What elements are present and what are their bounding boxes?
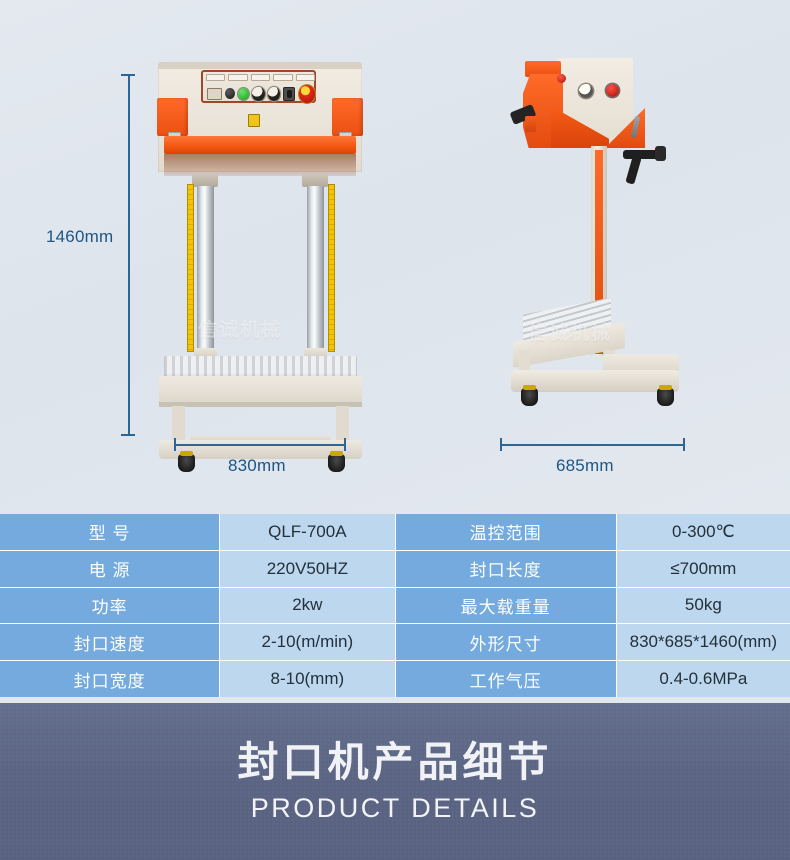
green-start-button-icon — [238, 88, 249, 100]
caster-side-left — [521, 388, 538, 406]
front-view-machine — [150, 62, 370, 444]
table-row: 电 源 220V50HZ 封口长度 ≤700mm — [0, 551, 790, 587]
side-red-button-icon — [606, 84, 619, 97]
panel-label-3 — [251, 74, 270, 81]
side-orange-tab — [525, 116, 536, 132]
panel-label-4 — [273, 74, 292, 81]
measuring-ruler-left — [187, 184, 194, 352]
front-width-dimension-label: 830mm — [228, 456, 286, 476]
chrome-post-left — [197, 186, 214, 350]
sealing-block-right — [332, 98, 363, 136]
spec-key: 封口长度 — [396, 551, 616, 587]
temperature-meter-icon — [252, 87, 265, 101]
spec-value: 830*685*1460(mm) — [617, 624, 790, 660]
roller-conveyor-front — [164, 356, 357, 378]
pressure-gauge-icon — [579, 84, 593, 98]
spec-value: 0.4-0.6MPa — [617, 661, 790, 697]
sealing-bar — [164, 136, 356, 154]
measuring-ruler-right — [328, 184, 335, 352]
side-view-machine — [505, 58, 685, 444]
control-panel-controls — [207, 85, 315, 102]
front-width-tick-right — [344, 438, 346, 451]
caster-front-right — [328, 454, 345, 472]
spec-key: 工作气压 — [396, 661, 616, 697]
side-width-tick-left — [500, 438, 502, 451]
front-width-tick-left — [174, 438, 176, 451]
side-width-tick-right — [683, 438, 685, 451]
spec-value: QLF-700A — [220, 514, 394, 550]
control-panel-label-strip — [206, 74, 315, 82]
spec-value: 2-10(m/min) — [220, 624, 394, 660]
caster-front-left — [178, 454, 195, 472]
specification-table: 型 号 QLF-700A 温控范围 0-300℃ 电 源 220V50HZ 封口… — [0, 514, 790, 697]
panel-label-5 — [296, 74, 315, 81]
table-row: 封口速度 2-10(m/min) 外形尺寸 830*685*1460(mm) — [0, 624, 790, 660]
spec-value: 8-10(mm) — [220, 661, 394, 697]
spec-key: 电 源 — [0, 551, 219, 587]
caster-side-right — [657, 388, 674, 406]
spec-key: 封口宽度 — [0, 661, 219, 697]
spec-key: 功率 — [0, 588, 219, 624]
front-width-dimension-line — [174, 444, 346, 446]
spec-value: 50kg — [617, 588, 790, 624]
spec-value: 0-300℃ — [617, 514, 790, 550]
sealing-bar-shadow — [164, 154, 356, 176]
machine-head-top-trim — [158, 62, 362, 69]
counter-meter-icon — [268, 87, 281, 101]
height-dimension-tick-bottom — [121, 434, 135, 436]
frame-legs-side — [519, 350, 615, 372]
side-width-dimension-line — [500, 444, 685, 446]
banner-title-english: PRODUCT DETAILS — [251, 793, 540, 824]
side-width-dimension-label: 685mm — [556, 456, 614, 476]
table-row: 封口宽度 8-10(mm) 工作气压 0.4-0.6MPa — [0, 661, 790, 697]
spec-key: 温控范围 — [396, 514, 616, 550]
spec-key: 外形尺寸 — [396, 624, 616, 660]
spec-value: 2kw — [220, 588, 394, 624]
panel-label-1 — [206, 74, 225, 81]
side-lever-clamp — [655, 146, 666, 161]
banner-title-chinese: 封口机产品细节 — [238, 739, 553, 786]
table-row: 型 号 QLF-700A 温控范围 0-300℃ — [0, 514, 790, 550]
height-dimension-tick-top — [121, 74, 135, 76]
power-switch-icon — [283, 87, 295, 101]
speed-knob-icon — [225, 88, 235, 99]
sealing-block-left — [157, 98, 188, 136]
spec-value: ≤700mm — [617, 551, 790, 587]
spec-key: 最大载重量 — [396, 588, 616, 624]
emergency-stop-icon — [299, 85, 315, 103]
digital-display-icon — [207, 88, 222, 100]
side-red-indicator-icon — [557, 74, 566, 83]
conveyor-deck-front — [159, 376, 362, 404]
product-photo-area: 1460mm — [0, 0, 790, 514]
control-panel — [201, 70, 316, 103]
spec-key: 封口速度 — [0, 624, 219, 660]
spec-value: 220V50HZ — [220, 551, 394, 587]
spec-key: 型 号 — [0, 514, 219, 550]
table-row: 功率 2kw 最大载重量 50kg — [0, 588, 790, 624]
chrome-post-right — [307, 186, 324, 350]
panel-label-2 — [228, 74, 247, 81]
height-dimension-line — [128, 74, 130, 436]
warning-label-icon — [248, 114, 260, 127]
height-dimension-label: 1460mm — [46, 227, 113, 247]
side-lever-grip — [625, 155, 641, 184]
product-details-banner: 封口机产品细节 PRODUCT DETAILS — [0, 703, 790, 860]
